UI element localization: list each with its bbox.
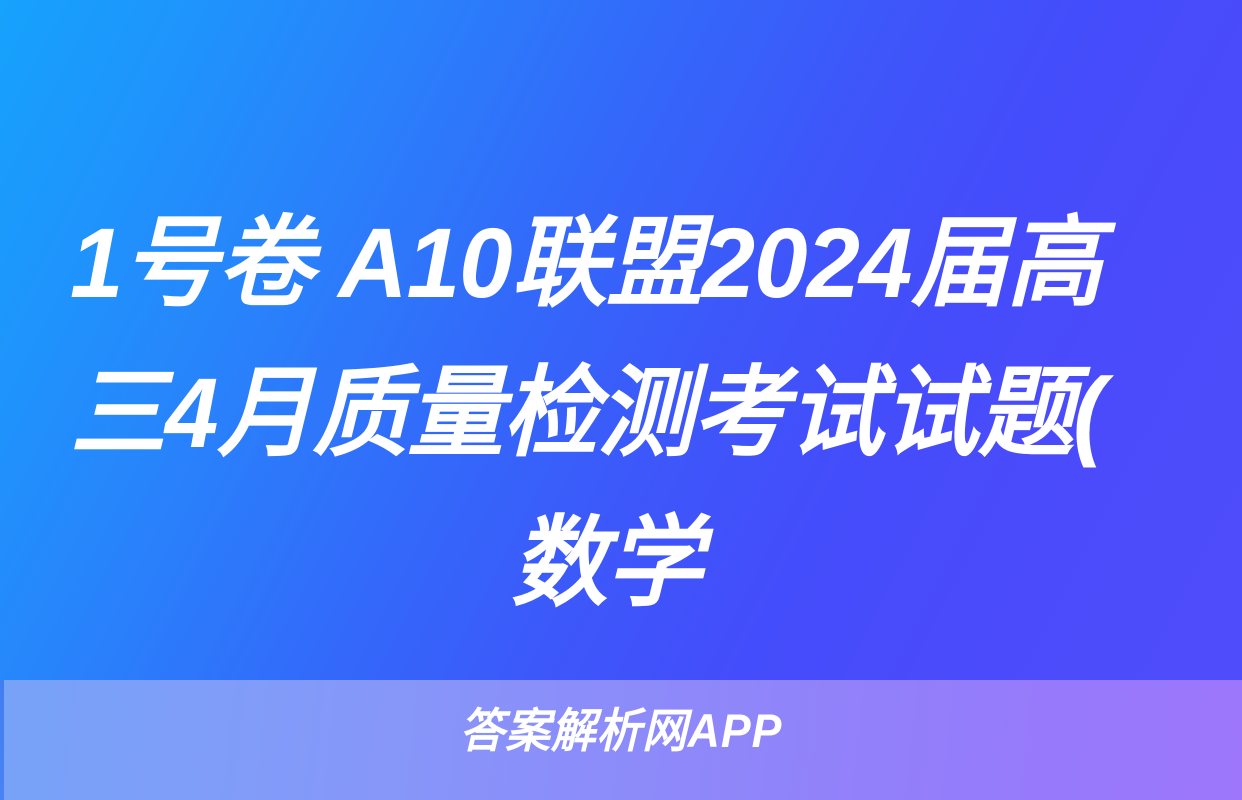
poster-title-line-3: 数学: [70, 488, 1207, 638]
watermark-brand-text: 答案解析网APP: [31, 702, 1211, 760]
exam-poster-banner: 1号卷 A10联盟2024届高 三4月质量检测考试试题( 数学 答案解析网APP: [0, 0, 1242, 800]
poster-title-block: 1号卷 A10联盟2024届高 三4月质量检测考试试题( 数学: [70, 188, 1242, 618]
poster-title-line-1: 1号卷 A10联盟2024届高: [70, 188, 1207, 338]
footer-left-edge-strip: [0, 680, 4, 800]
poster-title-line-2: 三4月质量检测考试试题(: [70, 338, 1207, 488]
